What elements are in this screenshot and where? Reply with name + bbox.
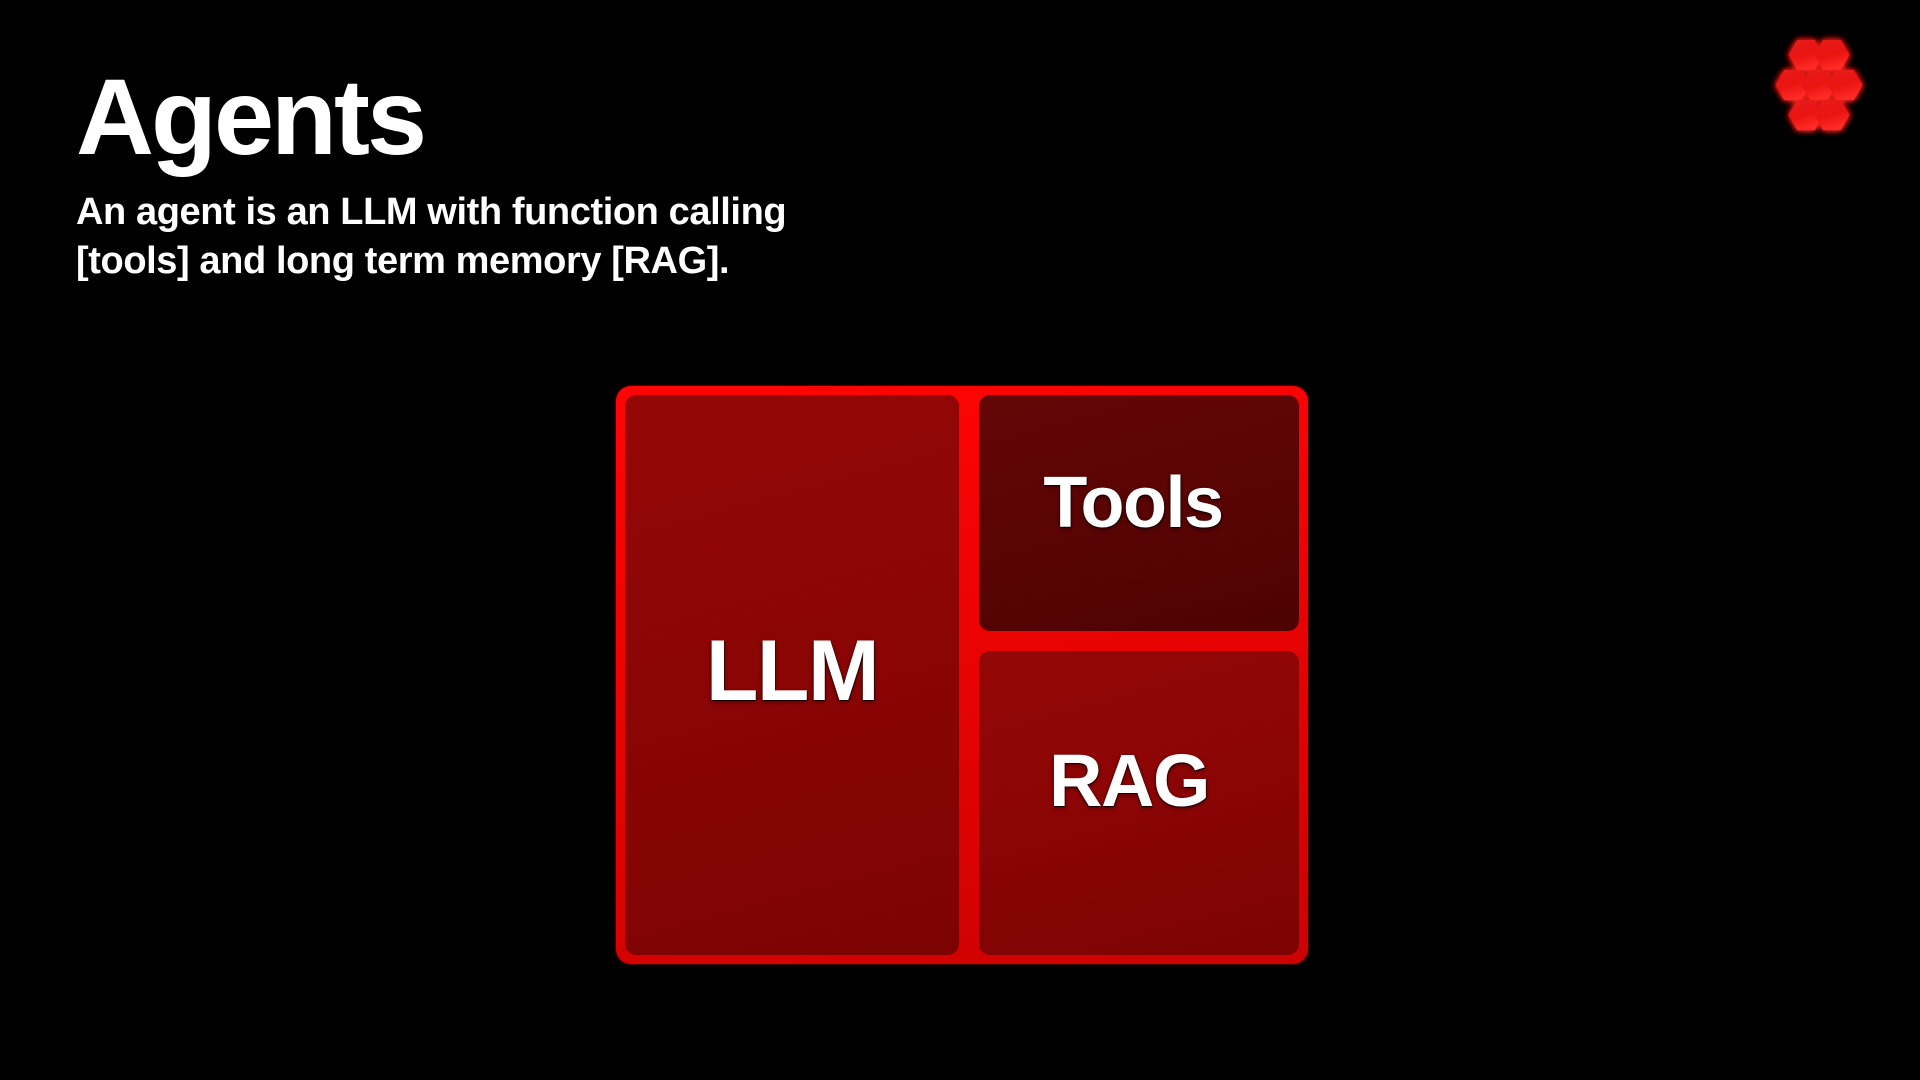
- hexagon-cluster-icon: [1762, 28, 1878, 144]
- diagram-panel-tools[interactable]: Tools: [979, 395, 1299, 631]
- page-title: Agents: [76, 62, 1276, 172]
- slide-canvas: Agents An agent is an LLM with function …: [0, 0, 1920, 1080]
- title-block: Agents An agent is an LLM with function …: [76, 62, 1276, 285]
- subtitle-line-1: An agent is an LLM with function calling: [76, 188, 1276, 237]
- diagram-panel-llm-label: LLM: [706, 628, 878, 714]
- diagram-right-column: Tools RAG: [979, 395, 1299, 955]
- diagram-panel-tools-label: Tools: [1043, 467, 1222, 539]
- diagram-panel-rag-label: RAG: [1049, 744, 1209, 818]
- diagram-panel-rag[interactable]: RAG: [979, 651, 1299, 955]
- diagram-panel-llm[interactable]: LLM: [625, 395, 959, 955]
- subtitle-line-2: [tools] and long term memory [RAG].: [76, 237, 1276, 286]
- slide-subtitle: An agent is an LLM with function calling…: [76, 188, 1276, 285]
- agent-diagram: LLM Tools RAG: [616, 386, 1308, 964]
